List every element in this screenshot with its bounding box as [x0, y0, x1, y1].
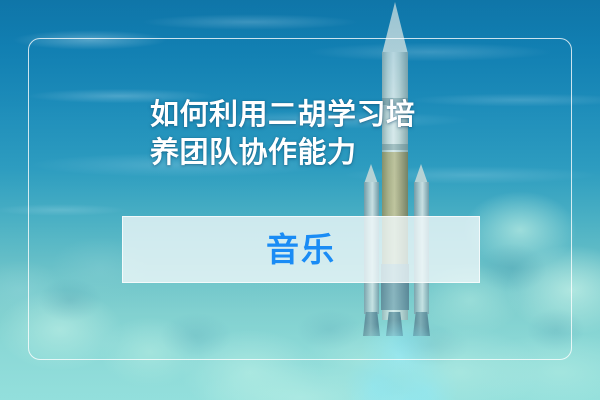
page-title: 如何利用二胡学习培 养团队协作能力: [150, 96, 460, 172]
category-panel[interactable]: 音乐: [122, 216, 480, 283]
cover-card: 如何利用二胡学习培 养团队协作能力 音乐: [0, 0, 600, 400]
category-label: 音乐: [266, 233, 336, 266]
decorative-frame: [28, 38, 572, 360]
